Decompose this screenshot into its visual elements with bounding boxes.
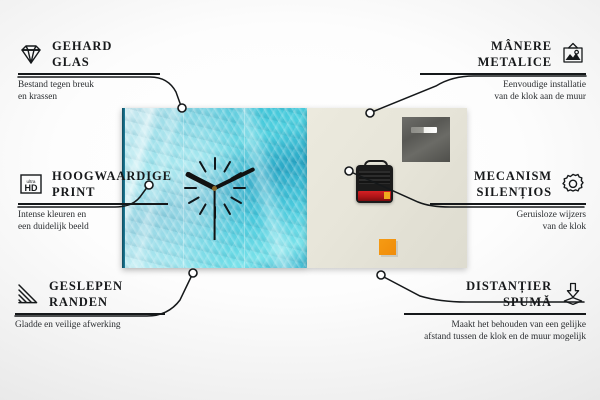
- callout-header: GESLEPEN RANDEN: [15, 278, 185, 310]
- foam-spacer: [379, 239, 396, 255]
- callout-description: Maakt het behouden van een gelijke afsta…: [404, 319, 586, 345]
- callout-title: MÂNERE METALICE: [420, 38, 552, 70]
- callout-hoogwaardige-print: ultra HD HOOGWAARDIGE PRINT Intense kleu…: [18, 168, 188, 234]
- callout-header: ultra HD HOOGWAARDIGE PRINT: [18, 168, 188, 200]
- callout-gehard-glas: GEHARD GLAS Bestand tegen breuk en krass…: [18, 38, 178, 104]
- callout-description: Eenvoudige installatie van de klok aan d…: [420, 79, 586, 105]
- battery-plus-terminal: [384, 192, 390, 199]
- mechanism-bail: [364, 160, 388, 170]
- callout-title: HOOGWAARDIGE PRINT: [52, 168, 172, 200]
- product-infographic: GEHARD GLAS Bestand tegen breuk en krass…: [0, 0, 600, 400]
- clock-second-hand: [214, 188, 216, 240]
- callout-description: Geruisloze wijzers van de klok: [430, 209, 586, 235]
- callout-rule: [404, 313, 586, 315]
- callout-description: Gladde en veilige afwerking: [15, 319, 185, 332]
- svg-text:HD: HD: [25, 183, 38, 193]
- callout-title: MECANISM SILENȚIOS: [430, 168, 552, 200]
- callout-mecanism-silentios: MECANISM SILENȚIOS Geruisloze wijzers va…: [430, 168, 586, 234]
- spacer-down-arrow-icon: [560, 282, 586, 306]
- callout-header: GEHARD GLAS: [18, 38, 178, 70]
- callout-title: GEHARD GLAS: [52, 38, 112, 70]
- callout-title: GESLEPEN RANDEN: [49, 278, 123, 310]
- clock-mechanism-box: [356, 165, 393, 203]
- callout-title: DISTANȚIER SPUMĂ: [404, 278, 552, 310]
- battery: [358, 191, 391, 201]
- callout-header: MÂNERE METALICE: [420, 38, 586, 70]
- beveled-edges-icon: [15, 282, 41, 306]
- ultra-hd-icon: ultra HD: [18, 172, 44, 196]
- metal-hanger-plate: [402, 117, 450, 162]
- callout-manere-metalice: MÂNERE METALICE Eenvoudige installatie v…: [420, 38, 586, 104]
- callout-rule: [18, 73, 160, 75]
- callout-description: Bestand tegen breuk en krassen: [18, 79, 178, 105]
- hanger-slot: [411, 127, 437, 133]
- gear-icon: [560, 172, 586, 196]
- clock-hand-cap: [212, 186, 217, 191]
- callout-rule: [15, 313, 165, 315]
- callout-description: Intense kleuren en een duidelijk beeld: [18, 209, 188, 235]
- mechanism-ridges: [359, 171, 390, 184]
- callout-rule: [18, 203, 168, 205]
- callout-rule: [430, 203, 586, 205]
- callout-header: MECANISM SILENȚIOS: [430, 168, 586, 200]
- hanging-frame-icon: [560, 42, 586, 66]
- callout-header: DISTANȚIER SPUMĂ: [404, 278, 586, 310]
- diamond-icon: [18, 42, 44, 66]
- callout-geslepen-randen: GESLEPEN RANDEN Gladde en veilige afwerk…: [15, 278, 185, 331]
- callout-distantier-spuma: DISTANȚIER SPUMĂ Maakt het behouden van …: [404, 278, 586, 344]
- callout-rule: [420, 73, 586, 75]
